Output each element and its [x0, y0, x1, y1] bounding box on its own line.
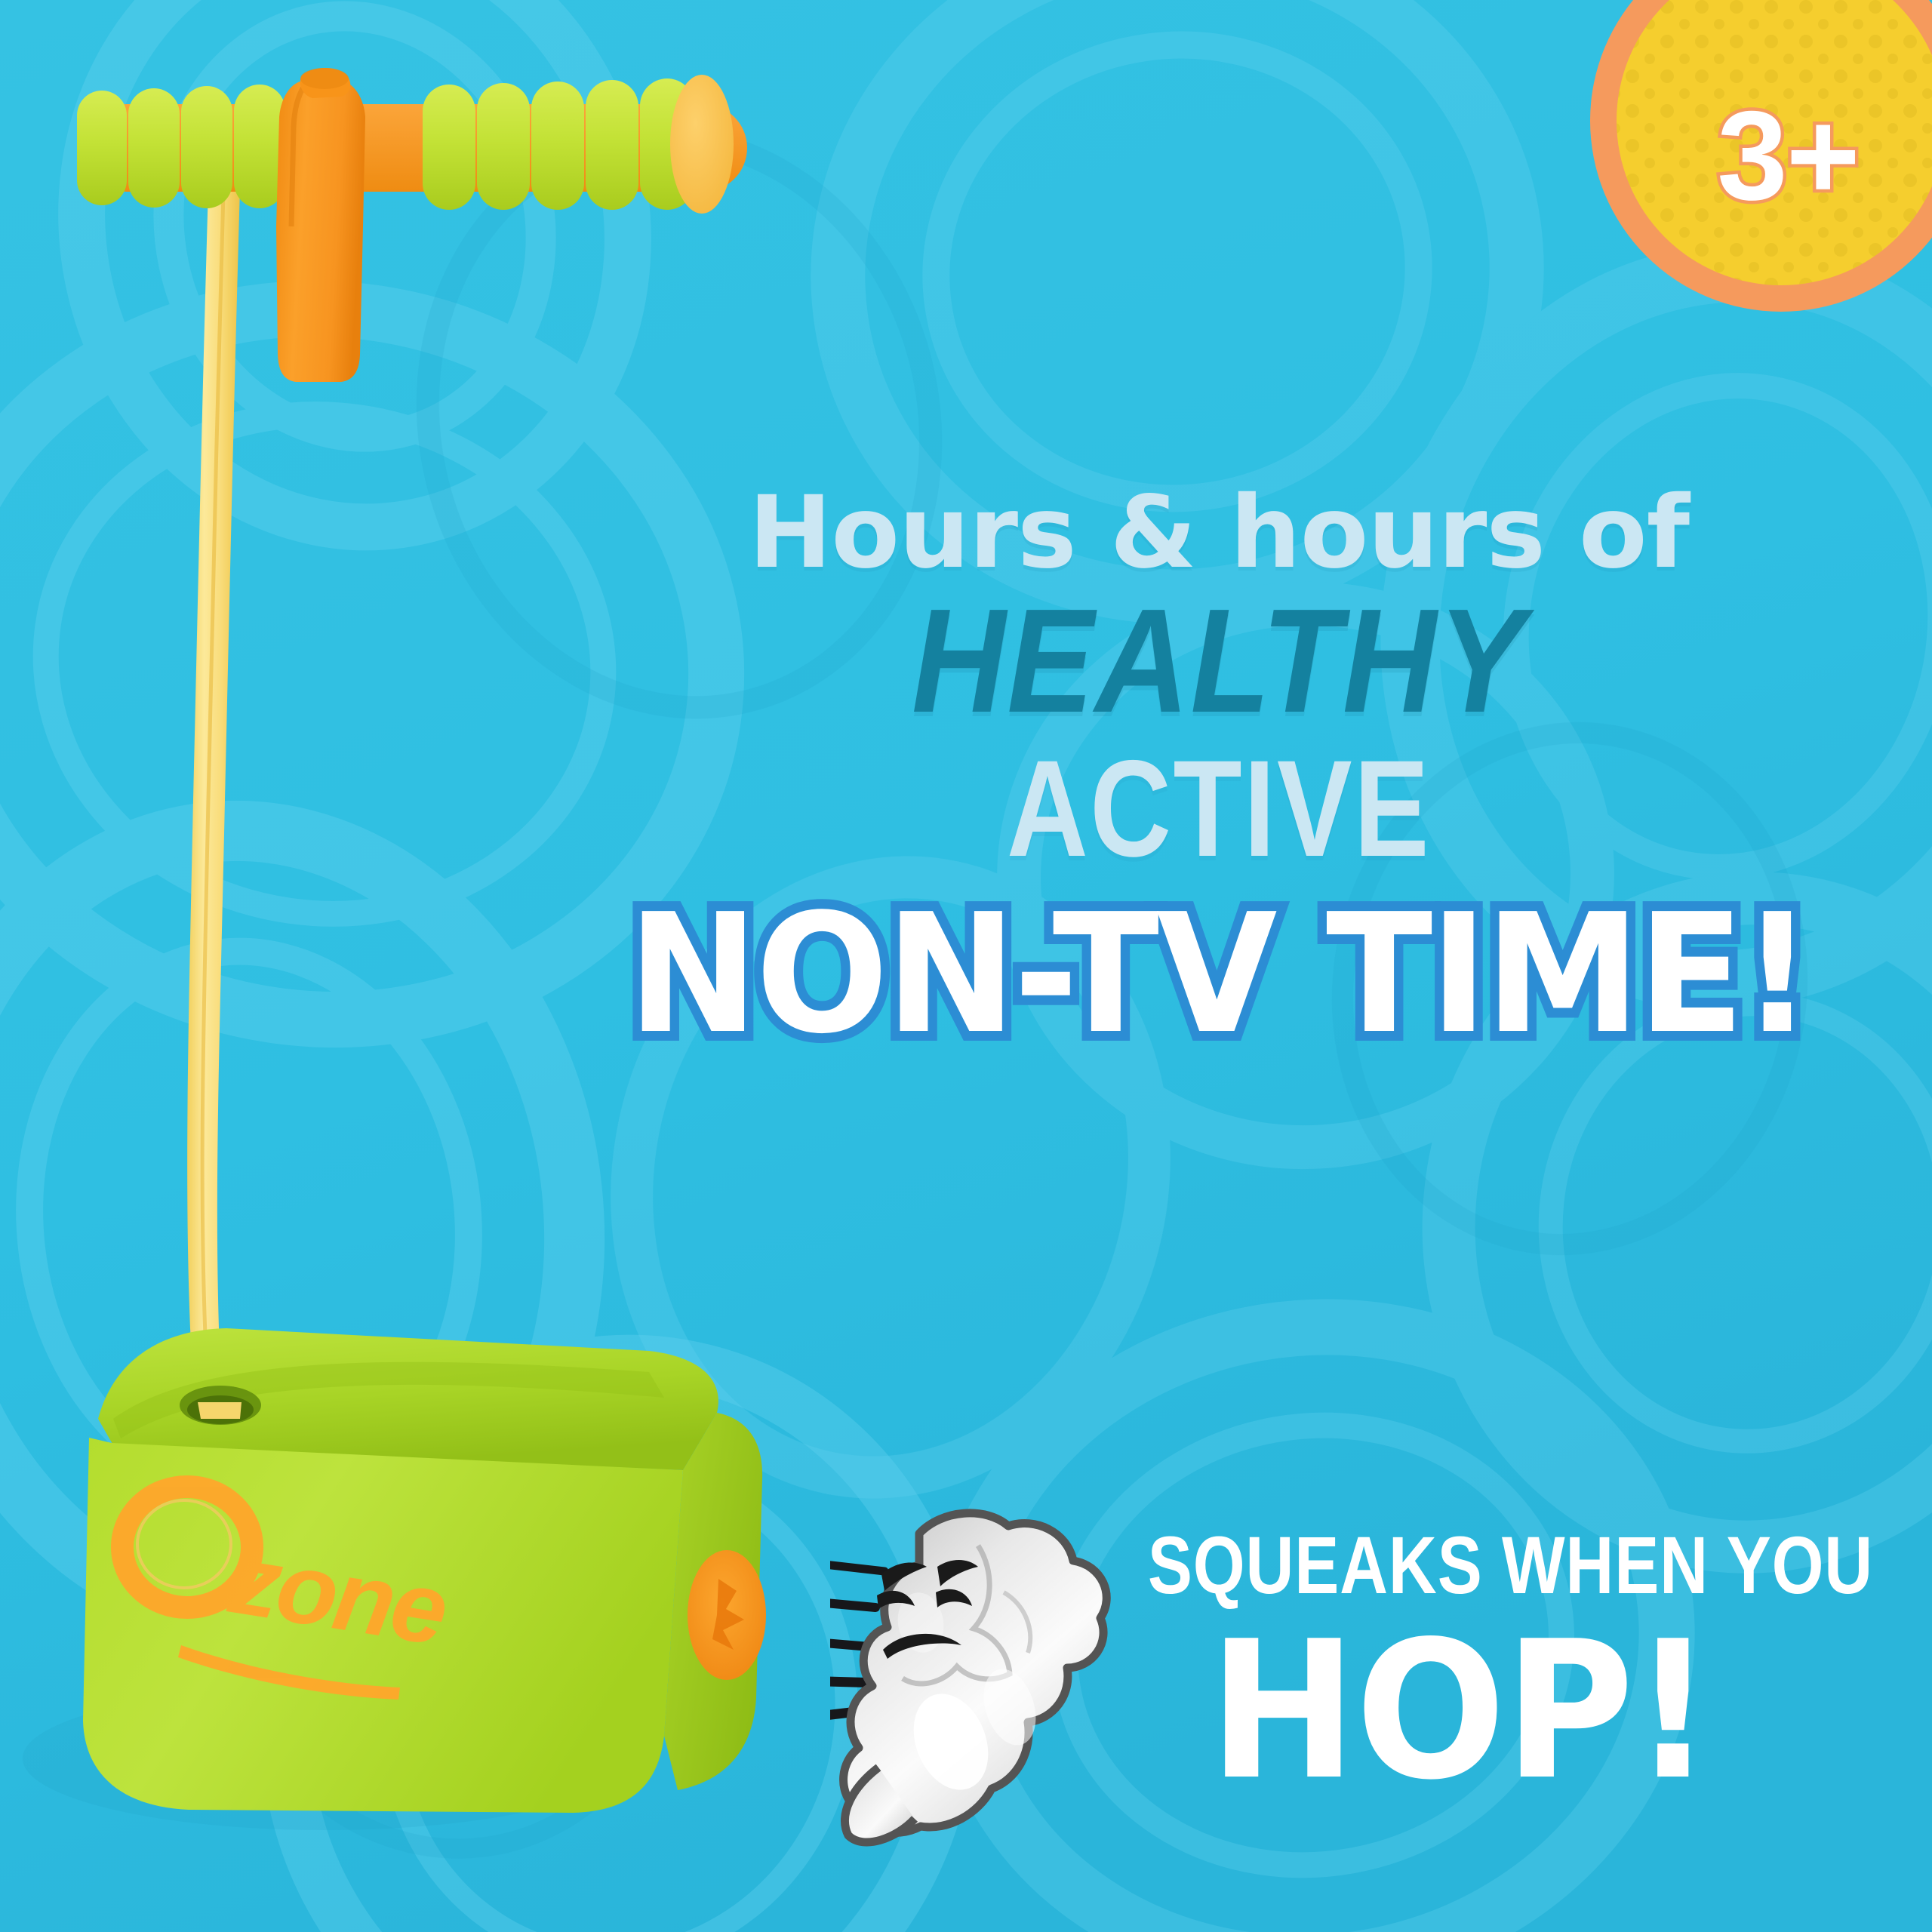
cloud-body — [844, 1513, 1107, 1842]
bungee-shaft — [187, 189, 240, 1411]
handle-grip-right — [423, 78, 694, 210]
product-banner: 3+ — [0, 0, 1932, 1932]
headline-line-nontv: NON-TV TIME! — [563, 893, 1875, 1057]
handle-end-cap — [670, 75, 734, 214]
squeak-callout-block: SQUEAKS WHEN YOU HOP! — [1079, 1524, 1841, 1807]
headline-block: Hours & hours of HEALTHY ACTIVE NON-TV T… — [528, 483, 1909, 1057]
squeak-callout-line1: SQUEAKS WHEN YOU — [1148, 1524, 1773, 1606]
squeaker-valve — [688, 1550, 766, 1680]
age-badge-label: 3+ — [1717, 92, 1859, 219]
headline-line-healthy: HEALTHY — [611, 590, 1826, 732]
neck-sleeve — [276, 80, 365, 382]
headline-line-active: ACTIVE — [653, 743, 1786, 875]
squeak-callout-line2: HOP! — [1106, 1617, 1814, 1807]
headline-line-hours: Hours & hours of — [528, 483, 1909, 583]
age-badge: 3+ — [1589, 0, 1932, 313]
